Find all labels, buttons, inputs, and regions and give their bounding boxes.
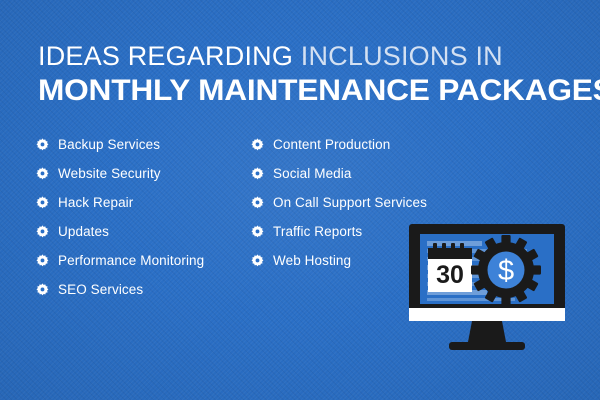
title-line-2: MONTHLY MAINTENANCE PACKAGES	[38, 74, 600, 108]
list-item-label: Website Security	[58, 166, 161, 181]
list-item[interactable]: Website Security	[36, 159, 204, 188]
calendar-day-number: 30	[436, 261, 464, 289]
list-item-label: Performance Monitoring	[58, 253, 204, 268]
poster-canvas: IDEAS REGARDING INCLUSIONS IN MONTHLY MA…	[0, 0, 600, 400]
calendar-ring	[433, 243, 437, 251]
calendar-ring	[460, 243, 464, 251]
gear-icon	[251, 254, 264, 267]
list-item-label: Web Hosting	[273, 253, 351, 268]
monitor-bottom-bezel	[409, 308, 565, 321]
list-item[interactable]: Traffic Reports	[251, 217, 427, 246]
gear-icon	[36, 283, 49, 296]
gear-icon	[251, 167, 264, 180]
list-item[interactable]: On Call Support Services	[251, 188, 427, 217]
calendar-ring	[451, 243, 455, 251]
gear-icon	[36, 167, 49, 180]
list-item-label: On Call Support Services	[273, 195, 427, 210]
title-block: IDEAS REGARDING INCLUSIONS IN MONTHLY MA…	[38, 41, 584, 108]
monitor-svg: 30	[409, 224, 565, 352]
monitor-stand-base	[449, 342, 525, 350]
title-line-1: IDEAS REGARDING INCLUSIONS IN	[38, 41, 584, 72]
list-item[interactable]: Web Hosting	[251, 246, 427, 275]
list-item-label: Social Media	[273, 166, 352, 181]
title-light-text-2: INCLUSIONS IN	[301, 41, 503, 71]
gear-icon	[36, 196, 49, 209]
gear-icon	[36, 254, 49, 267]
list-item-label: Updates	[58, 224, 109, 239]
gear-icon	[36, 225, 49, 238]
list-item[interactable]: Backup Services	[36, 130, 204, 159]
calendar-icon: 30	[428, 243, 472, 292]
services-column-right: Content Production Social Media On Call …	[251, 130, 427, 275]
list-item[interactable]: Updates	[36, 217, 204, 246]
list-item-label: Content Production	[273, 137, 390, 152]
list-item[interactable]: Hack Repair	[36, 188, 204, 217]
list-item[interactable]: Social Media	[251, 159, 427, 188]
list-item-label: Backup Services	[58, 137, 160, 152]
gear-icon	[251, 225, 264, 238]
list-item[interactable]: Performance Monitoring	[36, 246, 204, 275]
list-item[interactable]: SEO Services	[36, 275, 204, 304]
list-item-label: SEO Services	[58, 282, 143, 297]
gear-icon	[36, 138, 49, 151]
title-light-text	[293, 41, 301, 71]
list-item-label: Traffic Reports	[273, 224, 362, 239]
gear-icon	[251, 138, 264, 151]
gear-icon	[251, 196, 264, 209]
monitor-stand-neck	[468, 321, 506, 342]
calendar-ring	[442, 243, 446, 251]
services-column-left: Backup Services Website Security Hack Re…	[36, 130, 204, 304]
list-item-label: Hack Repair	[58, 195, 133, 210]
list-item[interactable]: Content Production	[251, 130, 427, 159]
dollar-symbol: $	[498, 255, 514, 287]
title-strong-text: IDEAS REGARDING	[38, 41, 293, 71]
monitor-illustration: 30	[409, 224, 565, 352]
